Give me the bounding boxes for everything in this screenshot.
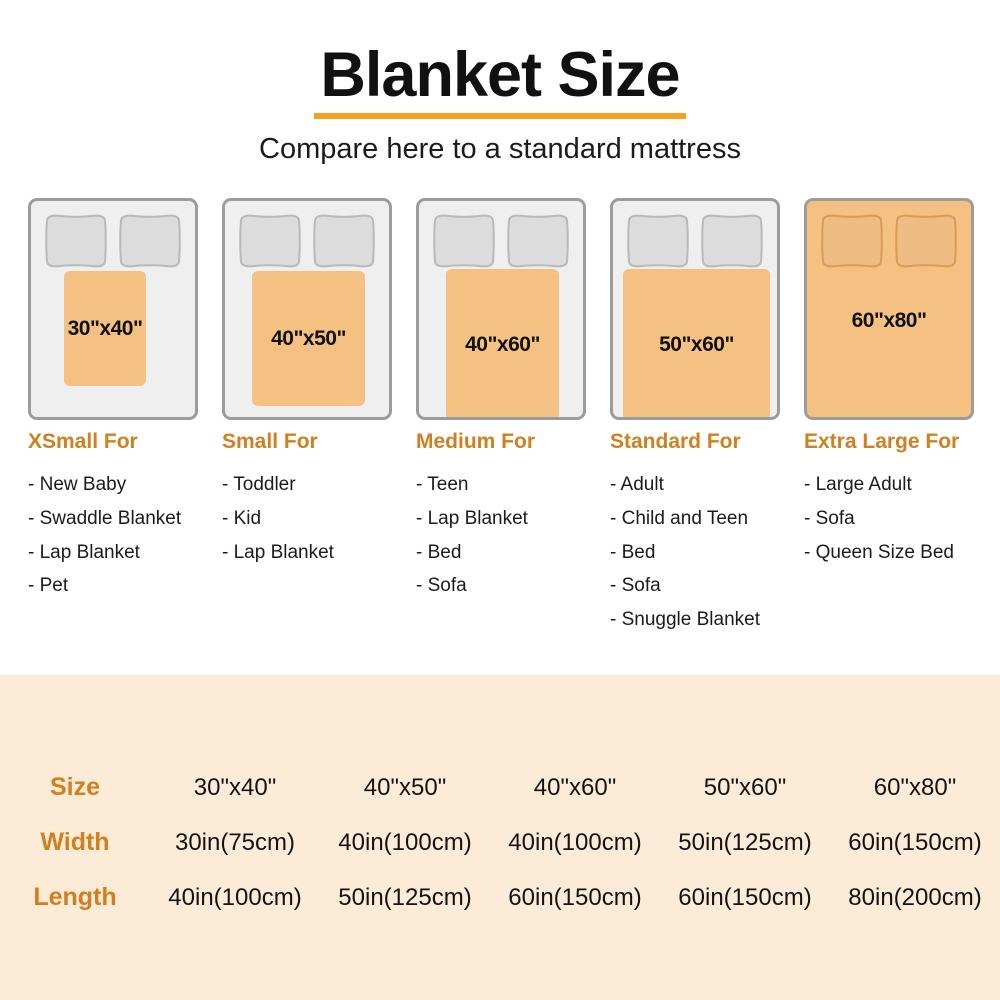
use-case-item: - Snuggle Blanket xyxy=(610,603,806,637)
use-case-item: - Queen Size Bed xyxy=(804,536,1000,570)
use-case-list: - Large Adult- Sofa- Queen Size Bed xyxy=(804,468,1000,569)
pillow xyxy=(235,213,305,269)
mattress: 30"x40" xyxy=(28,198,198,420)
mattress: 40"x60" xyxy=(416,198,586,420)
use-case-item: - Teen xyxy=(416,468,612,502)
pillow-pair xyxy=(235,213,379,269)
use-case-item: - Lap Blanket xyxy=(28,536,224,570)
table-cell: 80in(200cm) xyxy=(830,870,1000,925)
page-title: Blanket Size xyxy=(314,44,685,119)
blanket-overlay: 50"x60" xyxy=(623,269,770,420)
use-case-item: - New Baby xyxy=(28,468,224,502)
bed-diagram: 40"x60" xyxy=(416,198,586,420)
pillow-pair xyxy=(41,213,185,269)
page-subtitle: Compare here to a standard mattress xyxy=(0,133,1000,166)
use-case-list: - Teen- Lap Blanket- Bed- Sofa xyxy=(416,468,612,603)
dimensions-table-section: Size30"x40"40"x50"40"x60"50"x60"60"x80"W… xyxy=(0,675,1000,1000)
table-cell: 60in(150cm) xyxy=(490,870,660,925)
pillow-icon xyxy=(429,213,499,269)
pillow xyxy=(623,213,693,269)
bed-diagram: 50"x60" xyxy=(610,198,780,420)
dimensions-table: Size30"x40"40"x50"40"x60"50"x60"60"x80"W… xyxy=(0,760,1000,925)
size-description-column: XSmall For- New Baby- Swaddle Blanket- L… xyxy=(28,430,224,603)
table-row: Width30in(75cm)40in(100cm)40in(100cm)50i… xyxy=(0,815,1000,870)
pillow-pair xyxy=(817,213,961,269)
table-row-header: Size xyxy=(0,760,150,815)
table-cell: 40in(100cm) xyxy=(490,815,660,870)
table-row: Size30"x40"40"x50"40"x60"50"x60"60"x80" xyxy=(0,760,1000,815)
use-case-item: - Swaddle Blanket xyxy=(28,502,224,536)
bed-size-label: 40"x50" xyxy=(271,327,346,351)
size-description-heading: Extra Large For xyxy=(804,430,1000,454)
pillow-icon xyxy=(817,213,887,269)
table-cell: 30"x40" xyxy=(150,760,320,815)
pillow-icon xyxy=(41,213,111,269)
bed-diagrams: 30"x40"40"x50"40"x60"50"x60"60"x80" xyxy=(0,198,1000,423)
use-case-item: - Sofa xyxy=(804,502,1000,536)
use-case-item: - Kid xyxy=(222,502,418,536)
use-case-item: - Pet xyxy=(28,569,224,603)
pillow xyxy=(503,213,573,269)
blanket-overlay: 30"x40" xyxy=(64,271,146,386)
pillow-icon xyxy=(309,213,379,269)
mattress: 60"x80" xyxy=(804,198,974,420)
pillow-pair xyxy=(623,213,767,269)
table-cell: 60in(150cm) xyxy=(830,815,1000,870)
header: Blanket Size Compare here to a standard … xyxy=(0,0,1000,166)
table-row-header: Length xyxy=(0,870,150,925)
pillow xyxy=(41,213,111,269)
bed-size-label: 30"x40" xyxy=(68,317,143,341)
use-case-item: - Bed xyxy=(416,536,612,570)
pillow xyxy=(817,213,887,269)
use-case-item: - Child and Teen xyxy=(610,502,806,536)
pillow xyxy=(115,213,185,269)
pillow xyxy=(697,213,767,269)
size-description-heading: Small For xyxy=(222,430,418,454)
bed-diagram: 60"x80" xyxy=(804,198,974,420)
bed-diagram: 40"x50" xyxy=(222,198,392,420)
use-case-item: - Toddler xyxy=(222,468,418,502)
pillow xyxy=(309,213,379,269)
pillow xyxy=(891,213,961,269)
pillow-icon xyxy=(235,213,305,269)
pillow-icon xyxy=(697,213,767,269)
blanket-overlay: 40"x60" xyxy=(446,269,559,420)
table-row: Length40in(100cm)50in(125cm)60in(150cm)6… xyxy=(0,870,1000,925)
table-cell: 50in(125cm) xyxy=(320,870,490,925)
use-case-list: - Toddler- Kid- Lap Blanket xyxy=(222,468,418,569)
pillow xyxy=(429,213,499,269)
use-case-list: - Adult- Child and Teen- Bed- Sofa- Snug… xyxy=(610,468,806,637)
pillow-pair xyxy=(429,213,573,269)
bed-diagram: 30"x40" xyxy=(28,198,198,420)
size-description-column: Standard For- Adult- Child and Teen- Bed… xyxy=(610,430,806,637)
use-case-item: - Sofa xyxy=(416,569,612,603)
pillow-icon xyxy=(623,213,693,269)
table-cell: 40"x50" xyxy=(320,760,490,815)
use-case-item: - Large Adult xyxy=(804,468,1000,502)
mattress: 40"x50" xyxy=(222,198,392,420)
pillow-icon xyxy=(115,213,185,269)
size-description-column: Extra Large For- Large Adult- Sofa- Quee… xyxy=(804,430,1000,569)
bed-size-label: 50"x60" xyxy=(659,333,734,357)
table-cell: 40in(100cm) xyxy=(320,815,490,870)
table-row-header: Width xyxy=(0,815,150,870)
bed-size-label: 40"x60" xyxy=(465,333,540,357)
table-cell: 60in(150cm) xyxy=(660,870,830,925)
table-cell: 40in(100cm) xyxy=(150,870,320,925)
size-descriptions: XSmall For- New Baby- Swaddle Blanket- L… xyxy=(0,430,1000,660)
mattress: 50"x60" xyxy=(610,198,780,420)
size-description-heading: Standard For xyxy=(610,430,806,454)
pillow-icon xyxy=(891,213,961,269)
size-description-heading: Medium For xyxy=(416,430,612,454)
table-cell: 60"x80" xyxy=(830,760,1000,815)
size-description-column: Small For- Toddler- Kid- Lap Blanket xyxy=(222,430,418,569)
size-description-column: Medium For- Teen- Lap Blanket- Bed- Sofa xyxy=(416,430,612,603)
bed-size-label: 60"x80" xyxy=(807,309,971,333)
use-case-list: - New Baby- Swaddle Blanket- Lap Blanket… xyxy=(28,468,224,603)
table-cell: 30in(75cm) xyxy=(150,815,320,870)
pillow-icon xyxy=(503,213,573,269)
table-cell: 50"x60" xyxy=(660,760,830,815)
table-cell: 50in(125cm) xyxy=(660,815,830,870)
use-case-item: - Sofa xyxy=(610,569,806,603)
use-case-item: - Lap Blanket xyxy=(416,502,612,536)
use-case-item: - Adult xyxy=(610,468,806,502)
table-cell: 40"x60" xyxy=(490,760,660,815)
size-description-heading: XSmall For xyxy=(28,430,224,454)
use-case-item: - Bed xyxy=(610,536,806,570)
blanket-overlay: 40"x50" xyxy=(252,271,365,406)
use-case-item: - Lap Blanket xyxy=(222,536,418,570)
